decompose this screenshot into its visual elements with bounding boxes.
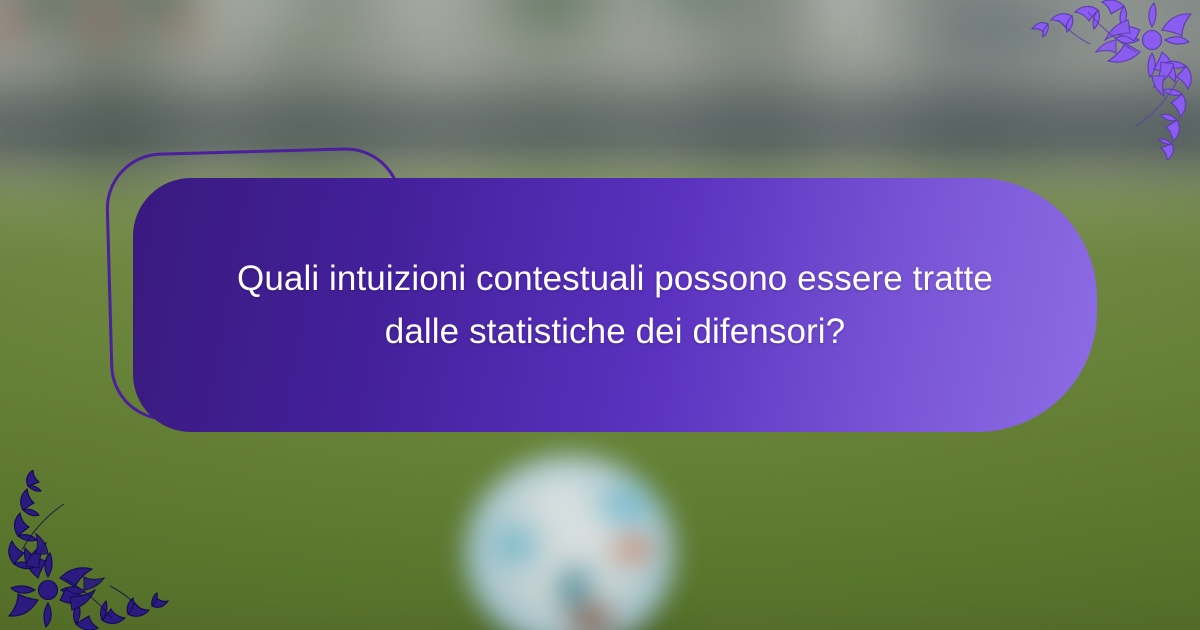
question-card: Quali intuizioni contestuali possono ess… — [133, 178, 1097, 432]
floral-damask-corner-icon — [0, 470, 172, 630]
ornament-top-right — [1028, 0, 1200, 160]
soccer-ball — [465, 455, 675, 630]
card-title: Quali intuizioni contestuali possono ess… — [235, 252, 995, 358]
social-card-canvas: Quali intuizioni contestuali possono ess… — [0, 0, 1200, 630]
floral-damask-corner-icon — [1028, 0, 1200, 160]
ornament-bottom-left — [0, 470, 172, 630]
